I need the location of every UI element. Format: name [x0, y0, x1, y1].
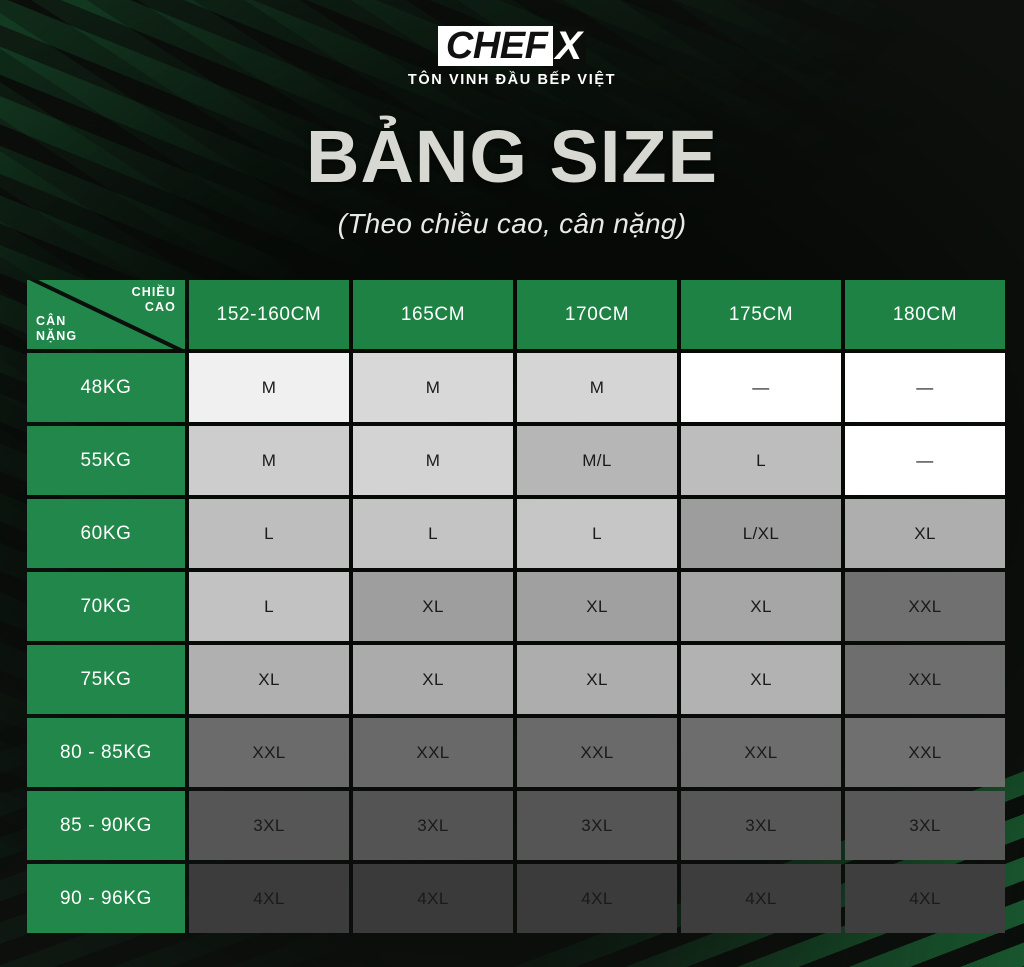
- weight-axis-label-line1: CÂN: [36, 314, 66, 328]
- weight-axis-label-line2: NẶNG: [36, 329, 77, 343]
- size-cell-r1-c0: M: [189, 426, 349, 495]
- table-row: 60KGLLLL/XLXL: [27, 499, 1005, 568]
- column-header-1: 165CM: [353, 280, 513, 349]
- table-row: 55KGMMM/LL—: [27, 426, 1005, 495]
- column-header-2: 170CM: [517, 280, 677, 349]
- size-cell-r7-c0: 4XL: [189, 864, 349, 933]
- size-cell-r0-c4: —: [845, 353, 1005, 422]
- table-row: 85 - 90KG3XL3XL3XL3XL3XL: [27, 791, 1005, 860]
- size-table-wrapper: CHIỀU CAO CÂN NẶNG 152-160CM 165CM 170CM…: [23, 276, 1001, 937]
- table-row: 48KGMMM——: [27, 353, 1005, 422]
- column-header-4: 180CM: [845, 280, 1005, 349]
- page-subtitle: (Theo chiều cao, cân nặng): [0, 208, 1024, 240]
- size-cell-r7-c3: 4XL: [681, 864, 841, 933]
- size-cell-r7-c1: 4XL: [353, 864, 513, 933]
- size-cell-r1-c4: —: [845, 426, 1005, 495]
- size-cell-r7-c4: 4XL: [845, 864, 1005, 933]
- size-cell-r3-c0: L: [189, 572, 349, 641]
- size-cell-r4-c3: XL: [681, 645, 841, 714]
- size-cell-r1-c3: L: [681, 426, 841, 495]
- logo-tagline: TÔN VINH ĐẦU BẾP VIỆT: [408, 72, 616, 88]
- size-cell-r0-c2: M: [517, 353, 677, 422]
- size-cell-r3-c1: XL: [353, 572, 513, 641]
- size-cell-r4-c4: XXL: [845, 645, 1005, 714]
- row-header-weight-7: 90 - 96KG: [27, 864, 185, 933]
- size-cell-r0-c1: M: [353, 353, 513, 422]
- page-title: BẢNG SIZE: [0, 120, 1024, 194]
- size-cell-r1-c2: M/L: [517, 426, 677, 495]
- weight-axis-label: CÂN NẶNG: [36, 314, 77, 345]
- height-axis-label-line2: CAO: [145, 300, 176, 314]
- size-cell-r2-c1: L: [353, 499, 513, 568]
- size-cell-r4-c0: XL: [189, 645, 349, 714]
- height-axis-label: CHIỀU CAO: [132, 285, 176, 316]
- size-cell-r6-c1: 3XL: [353, 791, 513, 860]
- size-cell-r0-c3: —: [681, 353, 841, 422]
- size-cell-r5-c0: XXL: [189, 718, 349, 787]
- height-axis-label-line1: CHIỀU: [132, 285, 176, 299]
- row-header-weight-6: 85 - 90KG: [27, 791, 185, 860]
- size-cell-r5-c2: XXL: [517, 718, 677, 787]
- size-cell-r3-c3: XL: [681, 572, 841, 641]
- size-chart-poster: CHEF X TÔN VINH ĐẦU BẾP VIỆT BẢNG SIZE (…: [0, 0, 1024, 967]
- table-row: 75KGXLXLXLXLXXL: [27, 645, 1005, 714]
- logo-wordmark-x: X: [553, 26, 586, 66]
- table-row: 80 - 85KGXXLXXLXXLXXLXXL: [27, 718, 1005, 787]
- size-cell-r4-c2: XL: [517, 645, 677, 714]
- row-header-weight-2: 60KG: [27, 499, 185, 568]
- size-cell-r1-c1: M: [353, 426, 513, 495]
- row-header-weight-0: 48KG: [27, 353, 185, 422]
- size-cell-r6-c3: 3XL: [681, 791, 841, 860]
- size-table: CHIỀU CAO CÂN NẶNG 152-160CM 165CM 170CM…: [23, 276, 1009, 937]
- brand-logo: CHEF X TÔN VINH ĐẦU BẾP VIỆT: [0, 0, 1024, 88]
- size-cell-r3-c2: XL: [517, 572, 677, 641]
- row-header-weight-4: 75KG: [27, 645, 185, 714]
- size-cell-r2-c0: L: [189, 499, 349, 568]
- logo-wordmark-chef: CHEF: [438, 26, 553, 66]
- size-cell-r5-c3: XXL: [681, 718, 841, 787]
- size-cell-r5-c4: XXL: [845, 718, 1005, 787]
- size-cell-r0-c0: M: [189, 353, 349, 422]
- size-cell-r2-c4: XL: [845, 499, 1005, 568]
- table-header-row: CHIỀU CAO CÂN NẶNG 152-160CM 165CM 170CM…: [27, 280, 1005, 349]
- size-cell-r6-c2: 3XL: [517, 791, 677, 860]
- size-table-head: CHIỀU CAO CÂN NẶNG 152-160CM 165CM 170CM…: [27, 280, 1005, 349]
- size-cell-r4-c1: XL: [353, 645, 513, 714]
- column-header-0: 152-160CM: [189, 280, 349, 349]
- size-cell-r6-c0: 3XL: [189, 791, 349, 860]
- row-header-weight-5: 80 - 85KG: [27, 718, 185, 787]
- size-cell-r2-c2: L: [517, 499, 677, 568]
- size-cell-r7-c2: 4XL: [517, 864, 677, 933]
- size-table-body: 48KGMMM——55KGMMM/LL—60KGLLLL/XLXL70KGLXL…: [27, 353, 1005, 933]
- column-header-3: 175CM: [681, 280, 841, 349]
- row-header-weight-1: 55KG: [27, 426, 185, 495]
- table-corner-cell: CHIỀU CAO CÂN NẶNG: [27, 280, 185, 349]
- size-cell-r2-c3: L/XL: [681, 499, 841, 568]
- table-row: 70KGLXLXLXLXXL: [27, 572, 1005, 641]
- size-cell-r3-c4: XXL: [845, 572, 1005, 641]
- size-cell-r5-c1: XXL: [353, 718, 513, 787]
- logo-mark: CHEF X: [438, 26, 586, 66]
- table-row: 90 - 96KG4XL4XL4XL4XL4XL: [27, 864, 1005, 933]
- size-cell-r6-c4: 3XL: [845, 791, 1005, 860]
- row-header-weight-3: 70KG: [27, 572, 185, 641]
